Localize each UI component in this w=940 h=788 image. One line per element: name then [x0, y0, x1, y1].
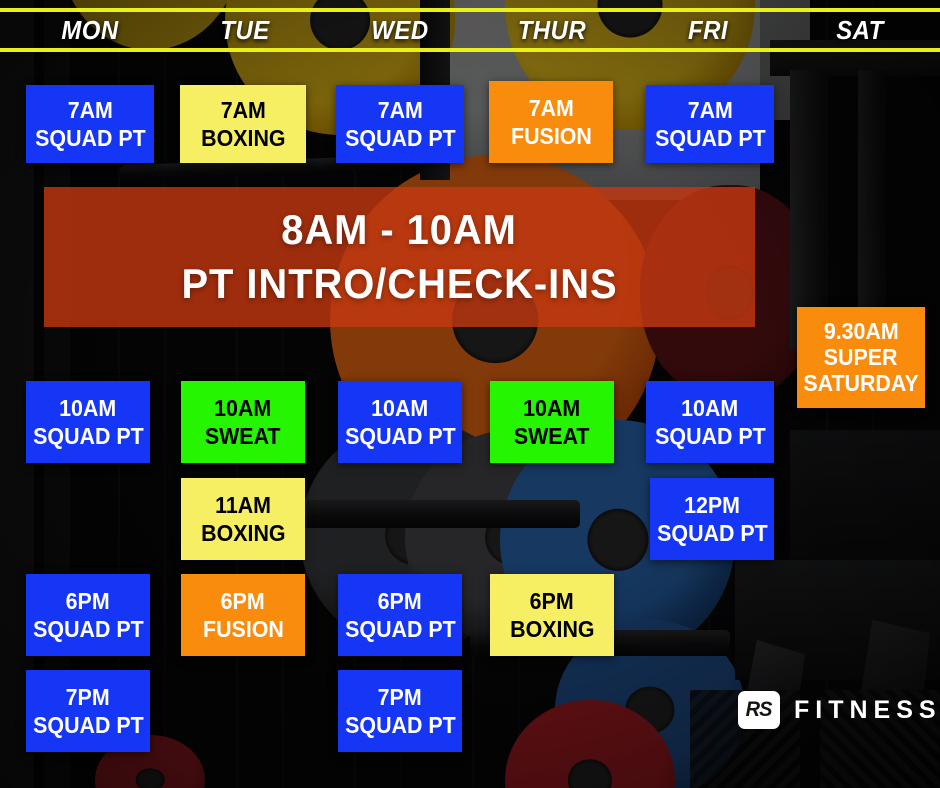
- class-name: SQUAD PT: [33, 618, 144, 641]
- rs-monogram-text: RS: [746, 698, 772, 722]
- class-block[interactable]: 10AMSWEAT: [490, 381, 614, 463]
- class-block[interactable]: 6PMFUSION: [181, 574, 305, 656]
- class-time: 7PM: [66, 686, 110, 709]
- rs-monogram-icon: RS: [738, 691, 780, 729]
- header-rule-bottom: [0, 48, 940, 52]
- day-labels-row: MONTUEWEDTHURFRISAT: [0, 12, 940, 48]
- class-name: SQUAD PT: [35, 127, 146, 150]
- timetable-poster: MONTUEWEDTHURFRISAT 8AM - 10AM PT INTRO/…: [0, 0, 940, 788]
- day-label-fri: FRI: [653, 12, 763, 48]
- class-block[interactable]: 10AMSQUAD PT: [646, 381, 774, 463]
- class-block[interactable]: 9.30AMSUPERSATURDAY: [797, 307, 925, 408]
- day-label-mon: MON: [35, 12, 145, 48]
- class-block[interactable]: 6PMSQUAD PT: [338, 574, 462, 656]
- class-name: BOXING: [201, 522, 285, 545]
- class-name: SWEAT: [514, 425, 590, 448]
- class-block[interactable]: 10AMSQUAD PT: [338, 381, 462, 463]
- day-header: MONTUEWEDTHURFRISAT: [0, 0, 940, 60]
- class-block[interactable]: 6PMBOXING: [490, 574, 614, 656]
- class-time: 7AM: [687, 99, 732, 122]
- class-name: SQUAD PT: [345, 618, 456, 641]
- class-name: SQUAD PT: [657, 522, 768, 545]
- class-block[interactable]: 6PMSQUAD PT: [26, 574, 150, 656]
- class-block[interactable]: 7AMSQUAD PT: [26, 85, 154, 163]
- day-label-thur: THUR: [497, 12, 607, 48]
- class-block[interactable]: 7AMSQUAD PT: [336, 85, 464, 163]
- class-time: 10AM: [371, 397, 428, 420]
- class-name: SQUAD PT: [345, 127, 456, 150]
- class-name: FUSION: [511, 125, 592, 148]
- class-name: SQUAD PT: [655, 425, 766, 448]
- class-time: 10AM: [681, 397, 738, 420]
- class-block[interactable]: 7PMSQUAD PT: [26, 670, 150, 752]
- class-name: SQUAD PT: [345, 425, 456, 448]
- class-time: 7AM: [528, 97, 573, 120]
- class-block[interactable]: 12PMSQUAD PT: [650, 478, 774, 560]
- class-time: 7AM: [377, 99, 422, 122]
- class-name: SUPER: [824, 346, 898, 369]
- class-block[interactable]: 7AMBOXING: [180, 85, 306, 163]
- class-name: BOXING: [510, 618, 594, 641]
- class-time: 6PM: [378, 590, 422, 613]
- class-name: BOXING: [201, 127, 285, 150]
- banner-time: 8AM - 10AM: [282, 206, 518, 254]
- class-time: 7AM: [220, 99, 265, 122]
- day-label-tue: TUE: [190, 12, 300, 48]
- day-label-wed: WED: [345, 12, 455, 48]
- class-name: SWEAT: [205, 425, 281, 448]
- class-name: SQUAD PT: [33, 425, 144, 448]
- class-time: 6PM: [66, 590, 110, 613]
- class-time: 6PM: [530, 590, 574, 613]
- class-block[interactable]: 7AMFUSION: [489, 81, 613, 163]
- class-block[interactable]: 10AMSQUAD PT: [26, 381, 150, 463]
- pt-intro-banner: 8AM - 10AM PT INTRO/CHECK-INS: [44, 187, 755, 327]
- day-label-sat: SAT: [805, 12, 915, 48]
- class-block[interactable]: 10AMSWEAT: [181, 381, 305, 463]
- class-name-line2: SATURDAY: [803, 372, 918, 395]
- brand-wordmark: FITNESS: [794, 696, 940, 725]
- class-time: 6PM: [221, 590, 265, 613]
- class-time: 7AM: [67, 99, 112, 122]
- banner-title: PT INTRO/CHECK-INS: [181, 260, 617, 308]
- class-name: FUSION: [203, 618, 284, 641]
- brand-logo: RS FITNESS: [738, 690, 940, 730]
- class-name: SQUAD PT: [33, 714, 144, 737]
- class-block[interactable]: 7PMSQUAD PT: [338, 670, 462, 752]
- class-time: 10AM: [214, 397, 271, 420]
- class-time: 10AM: [59, 397, 116, 420]
- class-time: 7PM: [378, 686, 422, 709]
- class-time: 10AM: [523, 397, 580, 420]
- class-block[interactable]: 11AMBOXING: [181, 478, 305, 560]
- class-time: 9.30AM: [824, 320, 899, 343]
- class-name: SQUAD PT: [655, 127, 766, 150]
- class-name: SQUAD PT: [345, 714, 456, 737]
- class-time: 11AM: [215, 494, 271, 517]
- class-time: 12PM: [684, 494, 740, 517]
- class-block[interactable]: 7AMSQUAD PT: [646, 85, 774, 163]
